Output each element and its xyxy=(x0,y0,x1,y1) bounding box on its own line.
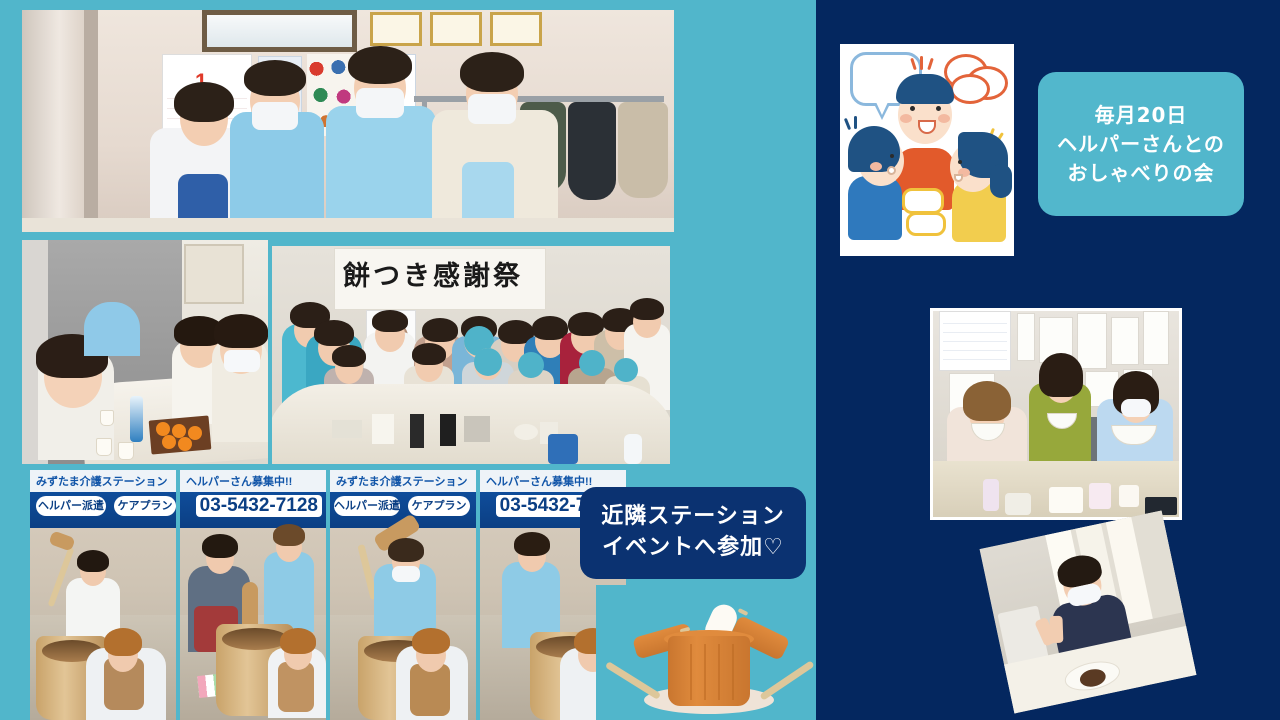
station-event-badge: 近隣ステーション イベントへ参加♡ xyxy=(580,487,806,579)
badge-line-3: おしゃべりの会 xyxy=(1068,159,1215,188)
photo-mochi-pounding-1: みずたま介護ステーション ヘルパー派遣 ケアプラン xyxy=(30,470,176,720)
badge-line-1: 毎月20日 xyxy=(1095,101,1188,130)
badge-line-1: 近隣ステーション xyxy=(601,502,785,533)
wall-calendar xyxy=(939,311,1011,371)
newsletter-collage-page: 1 xyxy=(0,0,1280,720)
photo-table-snack xyxy=(22,240,268,464)
photo-staff-group: 1 xyxy=(22,10,674,232)
monthly-chat-badge: 毎月20日 ヘルパーさんとの おしゃべりの会 xyxy=(1038,72,1244,216)
badge-line-2: ヘルパーさんとの xyxy=(1057,130,1225,159)
three-people-chatting-icon xyxy=(840,44,1014,256)
photo-bowls xyxy=(930,308,1182,520)
badge-line-2: イベントへ参加♡ xyxy=(602,533,784,564)
company-sign: ヘルパーさん募集中!! 03-5432-7128 xyxy=(180,470,326,528)
mochi-pounding-icon xyxy=(596,585,820,720)
photo-mochi-group: 餅つき感謝祭 xyxy=(272,246,670,464)
company-sign: みずたま介護ステーション ヘルパー派遣 ケアプラン xyxy=(30,470,176,528)
photo-mochi-pounding-2: ヘルパーさん募集中!! 03-5432-7128 xyxy=(180,470,326,720)
photo-mochi-pounding-3: みずたま介護ステーション ヘルパー派遣 ケアプラン xyxy=(330,470,476,720)
